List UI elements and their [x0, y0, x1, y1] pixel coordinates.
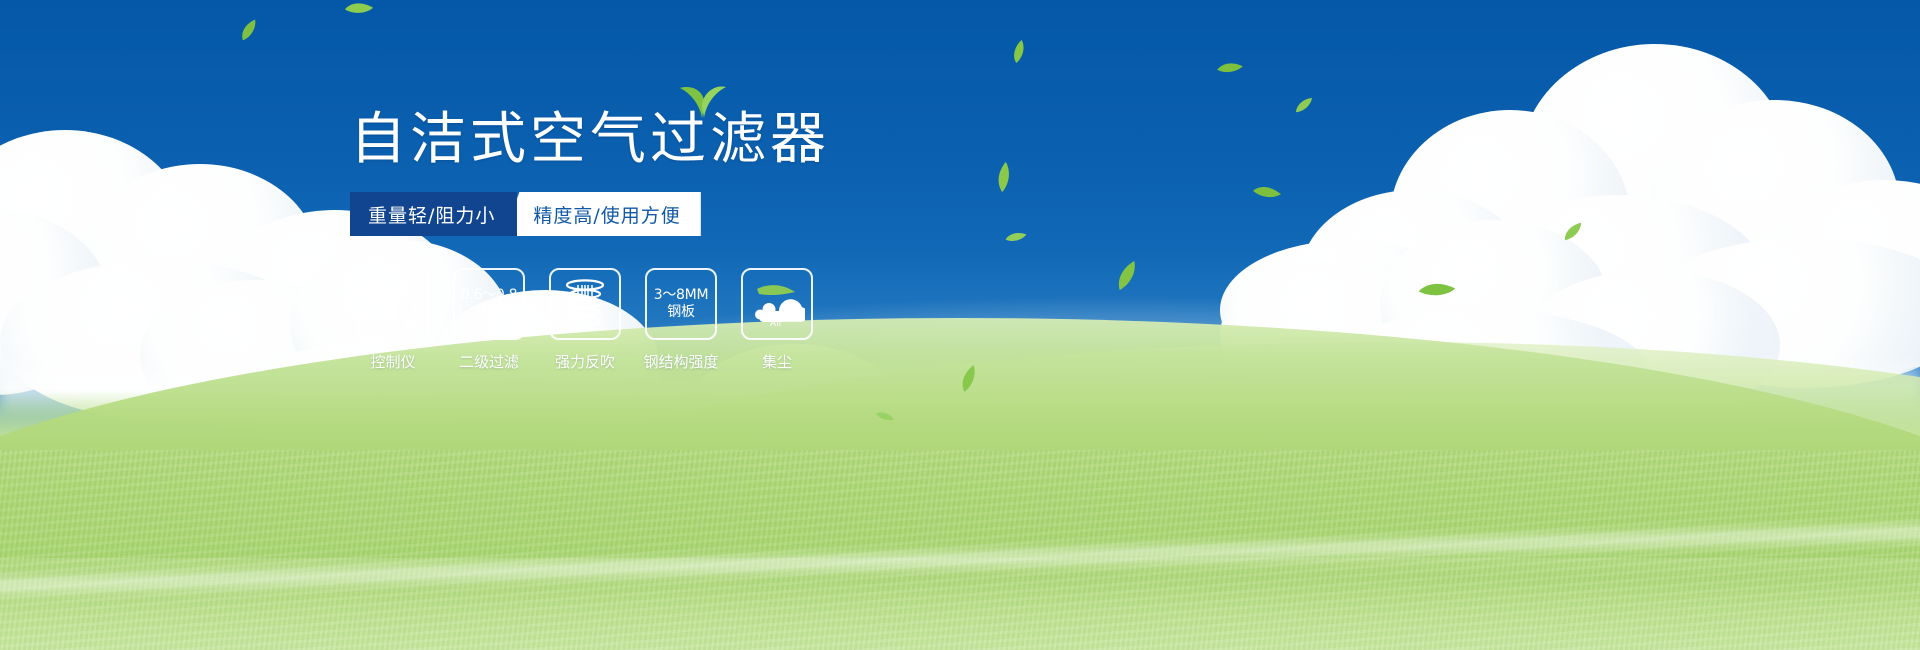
- title-leaf-icon: [680, 84, 726, 123]
- feature-caption-controller: 控制仪: [370, 351, 415, 372]
- feature-caption-dust-collection: 集尘: [762, 351, 792, 372]
- feature-caption-secondary-filter: 二级过滤: [459, 351, 519, 372]
- steel-thickness-value: 3〜8MM: [654, 287, 708, 304]
- badge-precision-convenience: 精度高/使用方便: [503, 192, 700, 236]
- air-label: Air: [770, 319, 783, 327]
- feature-item-steel-strength: 3〜8MM 钢板 钢结构强度: [645, 268, 717, 372]
- feature-icon-row: NO OFF 控制仪 0.6〜0.8 MPA 二级过滤: [357, 268, 813, 372]
- dial-label-off: OFF: [405, 322, 421, 330]
- pressure-unit-value: MPA: [475, 304, 503, 321]
- page-title: 自洁式空气过滤器: [350, 112, 830, 168]
- filter-cartridge-icon: [560, 278, 610, 330]
- feature-item-strong-blowback: 强力反吹: [549, 268, 621, 372]
- steel-material-value: 钢板: [667, 304, 694, 321]
- feature-box-dust-collection: Air: [741, 268, 813, 340]
- product-hero-banner: 自洁式空气过滤器 重量轻/阻力小 精度高/使用方便: [0, 0, 1920, 650]
- badge-weight-resistance: 重量轻/阻力小: [350, 192, 517, 236]
- feature-item-secondary-filter: 0.6〜0.8 MPA 二级过滤: [453, 268, 525, 372]
- banner-content: 自洁式空气过滤器 重量轻/阻力小 精度高/使用方便: [0, 0, 1920, 650]
- feature-box-strong-blowback: [549, 268, 621, 340]
- feature-box-secondary-filter: 0.6〜0.8 MPA: [453, 268, 525, 340]
- pressure-range-value: 0.6〜0.8: [461, 287, 517, 304]
- feature-item-controller: NO OFF 控制仪: [357, 268, 429, 372]
- title-block: 自洁式空气过滤器: [350, 112, 830, 168]
- feature-box-steel-strength: 3〜8MM 钢板: [645, 268, 717, 340]
- feature-box-controller: NO OFF: [357, 268, 429, 340]
- tagline-badges: 重量轻/阻力小 精度高/使用方便: [350, 192, 701, 236]
- feature-caption-steel-strength: 钢结构强度: [644, 351, 719, 372]
- dial-label-no: NO: [369, 301, 382, 310]
- feature-caption-strong-blowback: 强力反吹: [555, 351, 615, 372]
- control-dial-icon: NO OFF: [364, 277, 422, 331]
- air-cloud-icon: Air: [749, 283, 805, 327]
- feature-item-dust-collection: Air 集尘: [741, 268, 813, 372]
